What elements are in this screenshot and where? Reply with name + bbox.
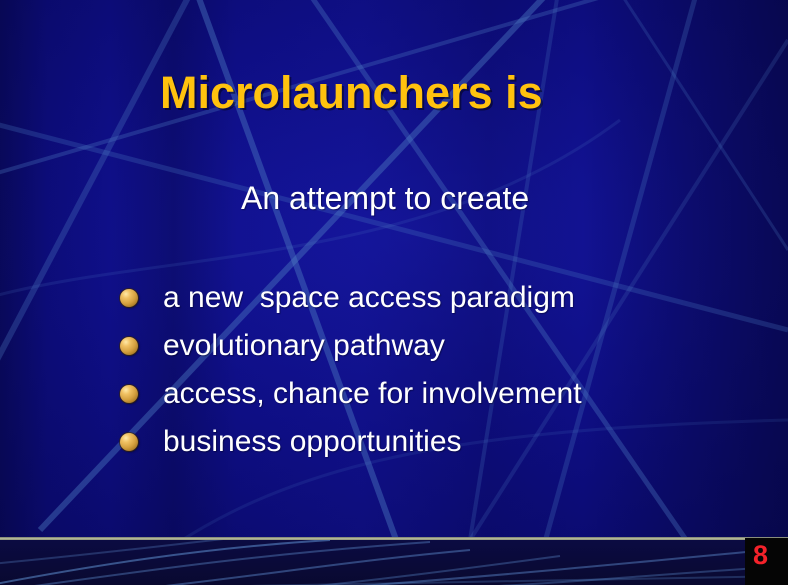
bullet-sphere-icon [120, 433, 138, 451]
slide-subtitle: An attempt to create [241, 180, 529, 217]
bullet-sphere-icon [120, 337, 138, 355]
bullet-text: business opportunities [163, 427, 462, 457]
slide-title: Microlaunchers is [160, 67, 543, 119]
footer-band [0, 540, 788, 585]
list-item: business opportunities [120, 418, 740, 466]
list-item: evolutionary pathway [120, 322, 740, 370]
list-item: a new space access paradigm [120, 274, 740, 322]
footer-decorative-curves [0, 540, 788, 585]
page-number-box: 8 [745, 538, 788, 585]
bullet-text: evolutionary pathway [163, 331, 445, 361]
bullet-sphere-icon [120, 385, 138, 403]
bullet-sphere-icon [120, 289, 138, 307]
bullet-text: access, chance for involvement [163, 379, 582, 409]
bullet-list: a new space access paradigm evolutionary… [120, 274, 740, 466]
presentation-slide: Microlaunchers is An attempt to create a… [0, 0, 788, 585]
page-number: 8 [753, 542, 768, 569]
list-item: access, chance for involvement [120, 370, 740, 418]
bullet-text: a new space access paradigm [163, 283, 575, 313]
